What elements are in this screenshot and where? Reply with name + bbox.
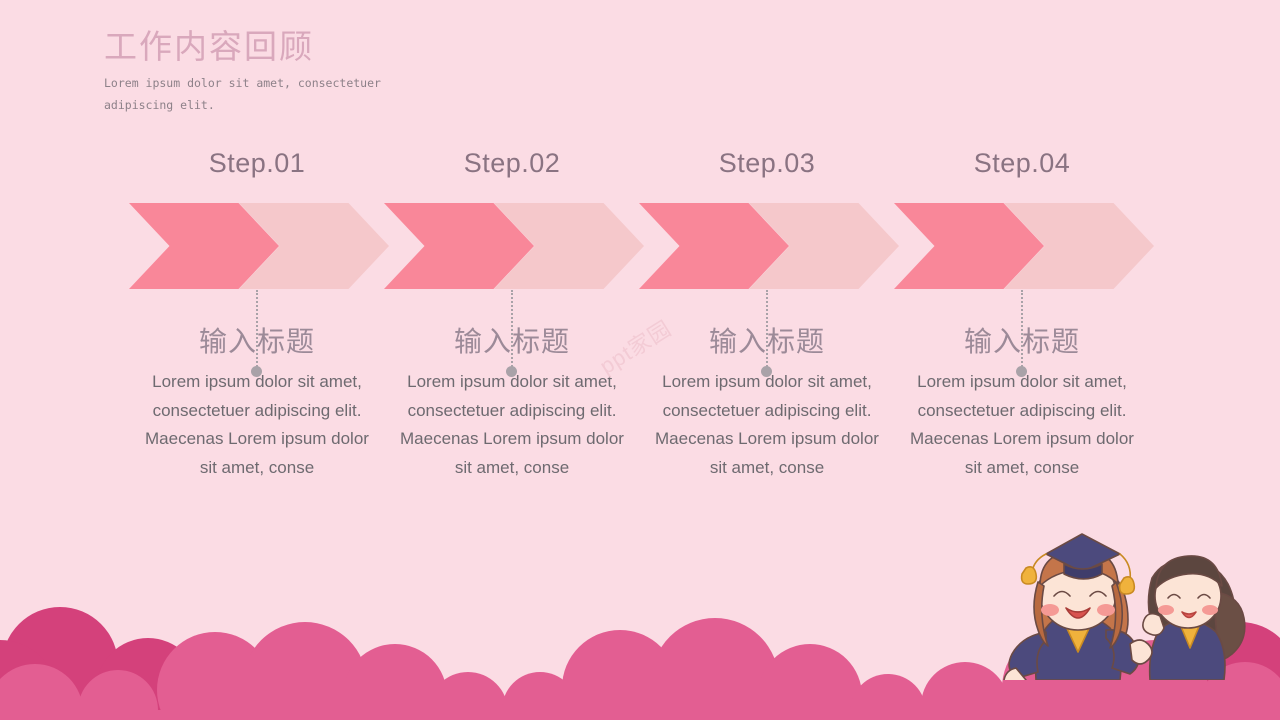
- right-girl-hand: [1143, 614, 1164, 635]
- right-girl-blush-right: [1202, 605, 1218, 615]
- step-heading-4: 输入标题: [894, 320, 1150, 360]
- left-girl-blush-right: [1097, 604, 1115, 616]
- slide-canvas: 工作内容回顾 Lorem ipsum dolor sit amet, conse…: [0, 0, 1280, 720]
- left-girl-tassel-2: [1022, 567, 1037, 584]
- graduates-illustration: [1002, 520, 1274, 680]
- left-girl-hand-right: [1130, 640, 1152, 664]
- step-item-2[interactable]: Step.02 输入标题 Lorem ipsum dolor sit amet,…: [384, 0, 640, 560]
- step-heading-3: 输入标题: [639, 320, 895, 360]
- left-girl-tassel: [1120, 577, 1135, 594]
- step-label-1: Step.01: [129, 148, 385, 179]
- step-chevrons-1: [129, 203, 385, 289]
- step-body-2: Lorem ipsum dolor sit amet, consectetuer…: [390, 368, 634, 482]
- step-label-3: Step.03: [639, 148, 895, 179]
- step-chevrons-4: [894, 203, 1150, 289]
- step-item-3[interactable]: Step.03 输入标题 Lorem ipsum dolor sit amet,…: [639, 0, 895, 560]
- step-item-1[interactable]: Step.01 输入标题 Lorem ipsum dolor sit amet,…: [129, 0, 385, 560]
- steps-container: Step.01 输入标题 Lorem ipsum dolor sit amet,…: [0, 0, 1280, 560]
- step-label-4: Step.04: [894, 148, 1150, 179]
- step-body-3: Lorem ipsum dolor sit amet, consectetuer…: [645, 368, 889, 482]
- step-chevrons-3: [639, 203, 895, 289]
- right-girl-blush-left: [1158, 605, 1174, 615]
- step-item-4[interactable]: Step.04 输入标题 Lorem ipsum dolor sit amet,…: [894, 0, 1150, 560]
- left-girl-blush-left: [1041, 604, 1059, 616]
- step-label-2: Step.02: [384, 148, 640, 179]
- step-heading-1: 输入标题: [129, 320, 385, 360]
- step-body-4: Lorem ipsum dolor sit amet, consectetuer…: [900, 368, 1144, 482]
- step-chevrons-2: [384, 203, 640, 289]
- step-body-1: Lorem ipsum dolor sit amet, consectetuer…: [135, 368, 379, 482]
